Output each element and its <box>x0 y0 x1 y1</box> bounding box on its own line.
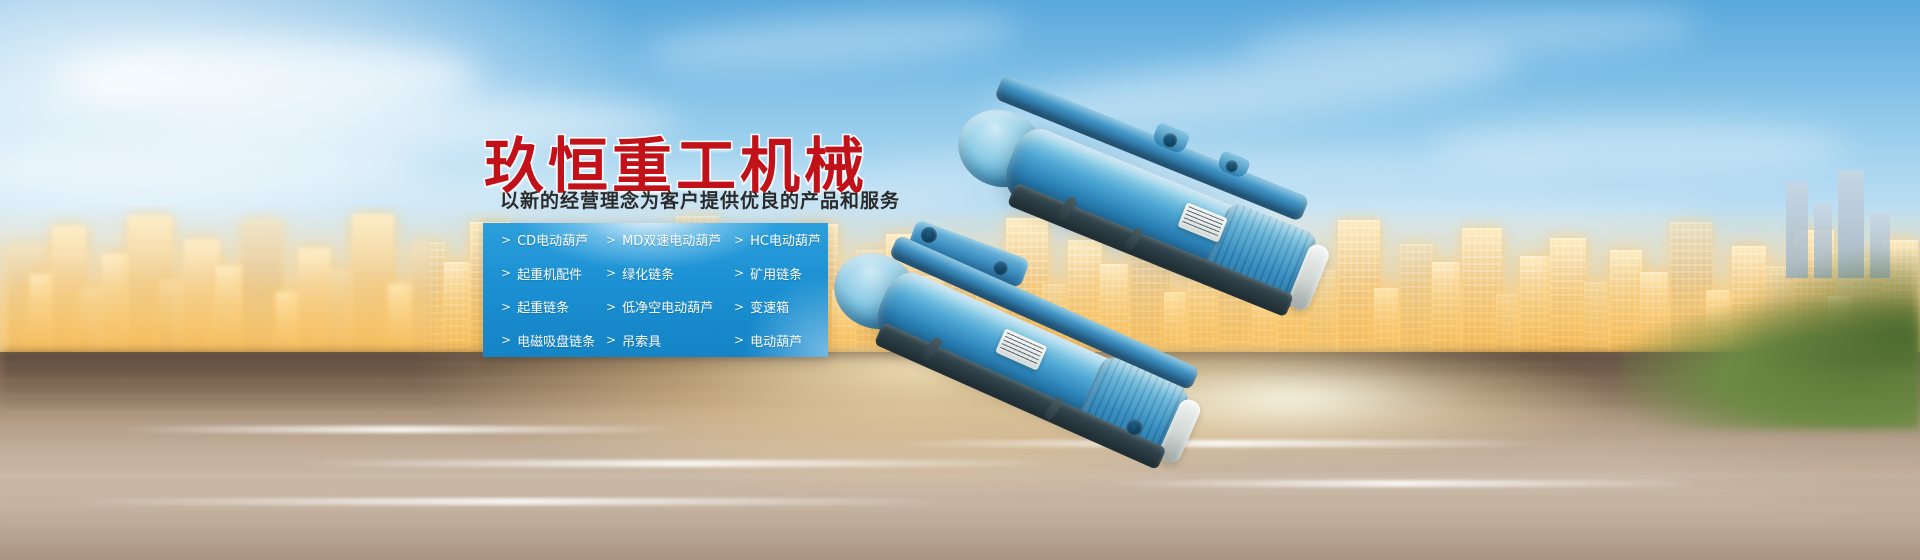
chevron-right-icon: > <box>606 300 616 314</box>
blue-electric-hoist-machinery <box>860 50 1500 420</box>
product-links-panel: >CD电动葫芦>MD双速电动葫芦>HC电动葫芦>起重机配件>绿化链条>矿用链条>… <box>483 223 828 357</box>
product-link-label: 矿用链条 <box>750 264 802 283</box>
product-links-grid: >CD电动葫芦>MD双速电动葫芦>HC电动葫芦>起重机配件>绿化链条>矿用链条>… <box>483 223 828 357</box>
product-link-label: 起重链条 <box>517 297 569 316</box>
product-link[interactable]: >吊索具 <box>606 331 734 350</box>
chevron-right-icon: > <box>606 333 616 347</box>
chevron-right-icon: > <box>734 266 744 280</box>
product-link[interactable]: >绿化链条 <box>606 264 734 283</box>
chevron-right-icon: > <box>606 233 616 247</box>
green-embankment-far <box>1740 250 1920 370</box>
product-link-label: 绿化链条 <box>622 264 674 283</box>
product-link[interactable]: >MD双速电动葫芦 <box>606 230 734 249</box>
product-link-label: MD双速电动葫芦 <box>622 230 721 249</box>
product-link-label: 吊索具 <box>622 331 661 350</box>
chevron-right-icon: > <box>734 233 744 247</box>
page-subtitle: 以新的经营理念为客户提供优良的产品和服务 <box>500 186 900 213</box>
product-link[interactable]: >电动葫芦 <box>734 331 846 350</box>
product-link[interactable]: >起重机配件 <box>501 264 606 283</box>
chevron-right-icon: > <box>501 233 511 247</box>
product-link-label: 起重机配件 <box>517 264 582 283</box>
product-link[interactable]: >低净空电动葫芦 <box>606 297 734 316</box>
product-link[interactable]: >电磁吸盘链条 <box>501 331 606 350</box>
product-link-label: 低净空电动葫芦 <box>622 297 713 316</box>
product-link[interactable]: >矿用链条 <box>734 264 846 283</box>
hero-banner: 玖恒重工机械 以新的经营理念为客户提供优良的产品和服务 >CD电动葫芦>MD双速… <box>0 0 1920 560</box>
product-link[interactable]: >变速箱 <box>734 297 846 316</box>
product-link-label: 电磁吸盘链条 <box>517 331 595 350</box>
product-link-label: CD电动葫芦 <box>517 230 588 249</box>
chevron-right-icon: > <box>501 266 511 280</box>
chevron-right-icon: > <box>501 300 511 314</box>
product-link[interactable]: >HC电动葫芦 <box>734 230 846 249</box>
chevron-right-icon: > <box>606 266 616 280</box>
product-link-label: 电动葫芦 <box>750 331 802 350</box>
chevron-right-icon: > <box>734 333 744 347</box>
product-link-label: HC电动葫芦 <box>750 230 821 249</box>
chevron-right-icon: > <box>734 300 744 314</box>
chevron-right-icon: > <box>501 333 511 347</box>
product-link-label: 变速箱 <box>750 297 789 316</box>
product-link[interactable]: >CD电动葫芦 <box>501 230 606 249</box>
product-link[interactable]: >起重链条 <box>501 297 606 316</box>
